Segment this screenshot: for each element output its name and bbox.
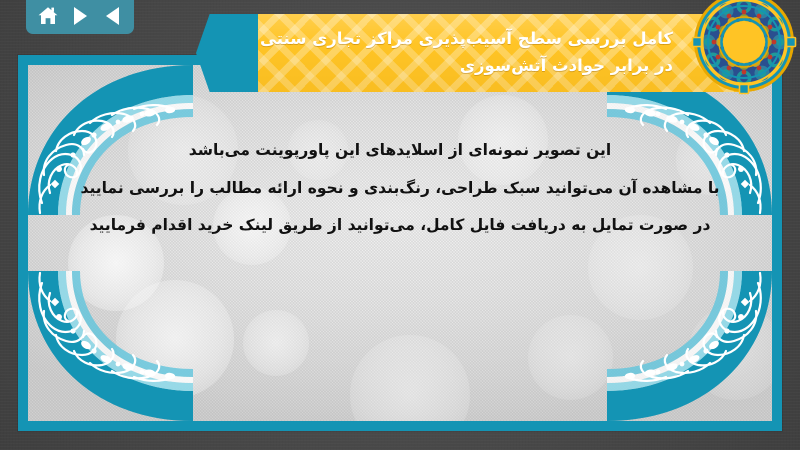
content-panel-inner: این تصویر نمونه‌ای از اسلایدهای این پاور… xyxy=(28,65,772,421)
bokeh-circle xyxy=(350,335,470,421)
body-line-2: با مشاهده آن می‌توانید سبک طراحی، رنگ‌بن… xyxy=(74,181,726,197)
slide-body-text: این تصویر نمونه‌ای از اسلایدهای این پاور… xyxy=(28,143,772,234)
bokeh-circle xyxy=(688,305,772,400)
home-icon xyxy=(37,6,59,26)
persian-medallion-icon xyxy=(690,0,798,96)
home-button[interactable] xyxy=(35,4,61,28)
slide-navigation-bar xyxy=(26,0,134,34)
body-line-3: در صورت تمایل به دریافت فایل کامل، می‌تو… xyxy=(74,218,726,234)
bokeh-circle xyxy=(243,310,309,376)
previous-slide-button[interactable] xyxy=(99,4,125,28)
presentation-slide: کامل بررسی سطح آسیب‌پذیری مراکز تجاری سن… xyxy=(0,0,800,450)
triangle-left-icon xyxy=(106,7,119,25)
triangle-right-icon xyxy=(74,7,87,25)
slide-title-banner: کامل بررسی سطح آسیب‌پذیری مراکز تجاری سن… xyxy=(243,14,743,92)
content-panel: این تصویر نمونه‌ای از اسلایدهای این پاور… xyxy=(18,55,782,431)
body-line-1: این تصویر نمونه‌ای از اسلایدهای این پاور… xyxy=(74,143,726,159)
slide-title: کامل بررسی سطح آسیب‌پذیری مراکز تجاری سن… xyxy=(257,26,673,79)
panel-texture xyxy=(28,65,772,421)
next-slide-button[interactable] xyxy=(67,4,93,28)
bokeh-circle xyxy=(528,315,613,400)
bokeh-circle xyxy=(116,280,234,398)
